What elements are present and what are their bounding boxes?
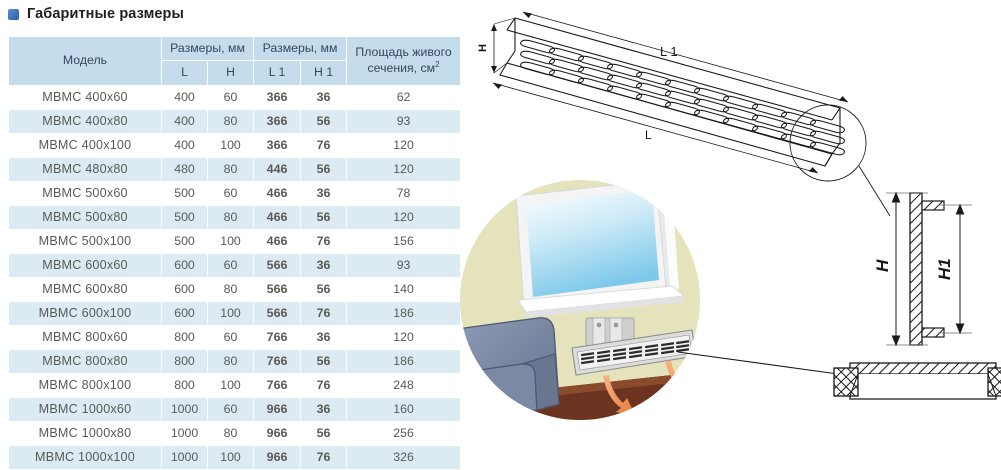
cell-h1: 56 (301, 422, 346, 445)
cell-area: 120 (347, 206, 460, 229)
bullet-icon (8, 9, 19, 20)
cell-model: МВМС 600х60 (9, 254, 161, 277)
cell-l1: 966 (254, 422, 300, 445)
cell-l1: 566 (254, 254, 300, 277)
cell-area: 93 (347, 254, 460, 277)
cell-h: 60 (208, 398, 253, 421)
cell-l: 400 (162, 86, 207, 109)
table-row: МВМС 400х60400603663662 (9, 86, 460, 109)
drawings-panel: L 1 L H (460, 0, 1001, 464)
table-head: Модель Размеры, мм Размеры, мм Площадь ж… (9, 37, 460, 85)
cell-l1: 366 (254, 134, 300, 157)
cell-l: 500 (162, 206, 207, 229)
table-row: МВМС 600х10060010056676186 (9, 302, 460, 325)
th-h: H (208, 61, 253, 84)
cell-model: МВМС 500х60 (9, 182, 161, 205)
cell-l: 600 (162, 278, 207, 301)
cell-area: 156 (347, 230, 460, 253)
cell-h: 100 (208, 302, 253, 325)
cell-area: 120 (347, 158, 460, 181)
cell-model: МВМС 400х60 (9, 86, 161, 109)
table-row: МВМС 400х10040010036676120 (9, 134, 460, 157)
cell-h1: 36 (301, 86, 346, 109)
side-section-drawing (886, 193, 972, 345)
cell-l: 1000 (162, 422, 207, 445)
cell-model: МВМС 800х80 (9, 350, 161, 373)
cell-h1: 36 (301, 326, 346, 349)
cell-h: 60 (208, 326, 253, 349)
cell-l1: 466 (254, 182, 300, 205)
section-flange-top (922, 201, 944, 210)
room-illustration (460, 180, 701, 420)
cell-area: 93 (347, 110, 460, 133)
th-area-line1: Площадь живого (355, 45, 451, 59)
isometric-label-l1: L 1 (660, 44, 678, 59)
cell-l: 600 (162, 254, 207, 277)
cell-area: 326 (347, 446, 460, 469)
cell-l1: 446 (254, 158, 300, 181)
cell-model: МВМС 1000х100 (9, 446, 161, 469)
table-row: МВМС 600х806008056656140 (9, 278, 460, 301)
cell-area: 186 (347, 350, 460, 373)
cell-h1: 36 (301, 398, 346, 421)
cell-area: 186 (347, 302, 460, 325)
cell-area: 160 (347, 398, 460, 421)
grille-slots (521, 40, 845, 155)
cell-h1: 56 (301, 158, 346, 181)
cell-h1: 76 (301, 374, 346, 397)
sofa (460, 318, 559, 420)
cell-model: МВМС 500х100 (9, 230, 161, 253)
cell-model: МВМС 1000х80 (9, 422, 161, 445)
cell-h: 80 (208, 278, 253, 301)
cell-h1: 36 (301, 254, 346, 277)
cell-h: 60 (208, 254, 253, 277)
cell-l1: 766 (254, 326, 300, 349)
th-group-1: Размеры, мм (162, 37, 253, 60)
cell-l: 800 (162, 350, 207, 373)
cell-h1: 36 (301, 182, 346, 205)
bottom-end-block-left (834, 368, 858, 396)
cell-h: 80 (208, 158, 253, 181)
section-plate (910, 193, 922, 345)
th-l1: L 1 (254, 61, 300, 84)
cell-h1: 56 (301, 110, 346, 133)
cell-h1: 76 (301, 134, 346, 157)
th-model: Модель (9, 37, 161, 85)
cell-l1: 766 (254, 350, 300, 373)
cell-l1: 366 (254, 86, 300, 109)
table-row: МВМС 1000х8010008096656256 (9, 422, 460, 445)
cell-h: 80 (208, 206, 253, 229)
technical-drawings-svg: L 1 L H (460, 0, 1001, 464)
cell-area: 248 (347, 374, 460, 397)
cell-area: 120 (347, 134, 460, 157)
cell-h: 100 (208, 230, 253, 253)
table-body: МВМС 400х60400603663662МВМС 400х80400803… (9, 86, 460, 469)
table-row: МВМС 800х10080010076676248 (9, 374, 460, 397)
isometric-label-l: L (645, 128, 652, 142)
bottom-body (850, 374, 996, 399)
cell-model: МВМС 800х60 (9, 326, 161, 349)
cell-l: 600 (162, 302, 207, 325)
cell-h1: 56 (301, 278, 346, 301)
page-title: Габаритные размеры (27, 6, 184, 22)
page-title-row: Габаритные размеры (8, 6, 184, 22)
th-h1: H 1 (301, 61, 346, 84)
table-row: МВМС 400х80400803665693 (9, 110, 460, 133)
section-flange-bottom (922, 328, 944, 337)
table-row: МВМС 600х60600605663693 (9, 254, 460, 277)
cell-l: 1000 (162, 398, 207, 421)
cell-l1: 566 (254, 278, 300, 301)
bottom-section-drawing (834, 363, 1001, 399)
isometric-label-h: H (477, 44, 489, 52)
cell-h: 100 (208, 446, 253, 469)
table-row: МВМС 500х805008046656120 (9, 206, 460, 229)
dimensions-table: Модель Размеры, мм Размеры, мм Площадь ж… (8, 36, 461, 470)
dimension-h1 (956, 205, 963, 333)
table-row: МВМС 1000х100100010096676326 (9, 446, 460, 469)
cell-area: 256 (347, 422, 460, 445)
cell-l: 400 (162, 110, 207, 133)
table-row: МВМС 800х608006076636120 (9, 326, 460, 349)
cell-l: 500 (162, 230, 207, 253)
th-l: L (162, 61, 207, 84)
cell-h1: 56 (301, 350, 346, 373)
th-area: Площадь живого сечения, см2 (347, 37, 460, 85)
cell-l: 500 (162, 182, 207, 205)
cell-h: 60 (208, 182, 253, 205)
cell-l1: 466 (254, 230, 300, 253)
cell-l1: 366 (254, 110, 300, 133)
cell-model: МВМС 800х100 (9, 374, 161, 397)
table-header-row-1: Модель Размеры, мм Размеры, мм Площадь ж… (9, 37, 460, 60)
dimensions-table-wrap: Модель Размеры, мм Размеры, мм Площадь ж… (8, 36, 456, 470)
cell-l: 800 (162, 374, 207, 397)
table-row: МВМС 480х804808044656120 (9, 158, 460, 181)
th-area-sup: 2 (435, 60, 439, 69)
cell-area: 120 (347, 326, 460, 349)
cell-model: МВМС 400х80 (9, 110, 161, 133)
section-label-h: H (873, 259, 892, 272)
leader-line-bottom-section (678, 352, 838, 374)
cell-area: 78 (347, 182, 460, 205)
cell-model: МВМС 480х80 (9, 158, 161, 181)
cell-h1: 76 (301, 302, 346, 325)
dimension-h (892, 193, 899, 345)
cell-h1: 76 (301, 230, 346, 253)
cell-model: МВМС 600х80 (9, 278, 161, 301)
cell-model: МВМС 400х100 (9, 134, 161, 157)
table-row: МВМС 500х60500604663678 (9, 182, 460, 205)
cell-l1: 766 (254, 374, 300, 397)
cell-l1: 466 (254, 206, 300, 229)
cell-h: 80 (208, 350, 253, 373)
cell-model: МВМС 500х80 (9, 206, 161, 229)
cell-h1: 76 (301, 446, 346, 469)
cell-h: 80 (208, 110, 253, 133)
cell-l: 400 (162, 134, 207, 157)
cell-l: 480 (162, 158, 207, 181)
section-label-h1: H1 (935, 258, 954, 280)
table-row: МВМС 800х808008076656186 (9, 350, 460, 373)
cell-model: МВМС 1000х60 (9, 398, 161, 421)
table-row: МВМС 500х10050010046676156 (9, 230, 460, 253)
th-area-line2: сечения, см (368, 61, 436, 75)
cell-h: 60 (208, 86, 253, 109)
cell-l: 1000 (162, 446, 207, 469)
cell-l1: 966 (254, 398, 300, 421)
window (516, 180, 684, 318)
th-group-2: Размеры, мм (254, 37, 346, 60)
cell-h: 100 (208, 374, 253, 397)
bottom-plate (850, 363, 996, 374)
cell-model: МВМС 600х100 (9, 302, 161, 325)
table-row: МВМС 1000х6010006096636160 (9, 398, 460, 421)
cell-h: 80 (208, 422, 253, 445)
cell-area: 140 (347, 278, 460, 301)
cell-h1: 56 (301, 206, 346, 229)
cell-h: 100 (208, 134, 253, 157)
cell-l1: 966 (254, 446, 300, 469)
cell-area: 62 (347, 86, 460, 109)
cell-l: 800 (162, 326, 207, 349)
cell-l1: 566 (254, 302, 300, 325)
